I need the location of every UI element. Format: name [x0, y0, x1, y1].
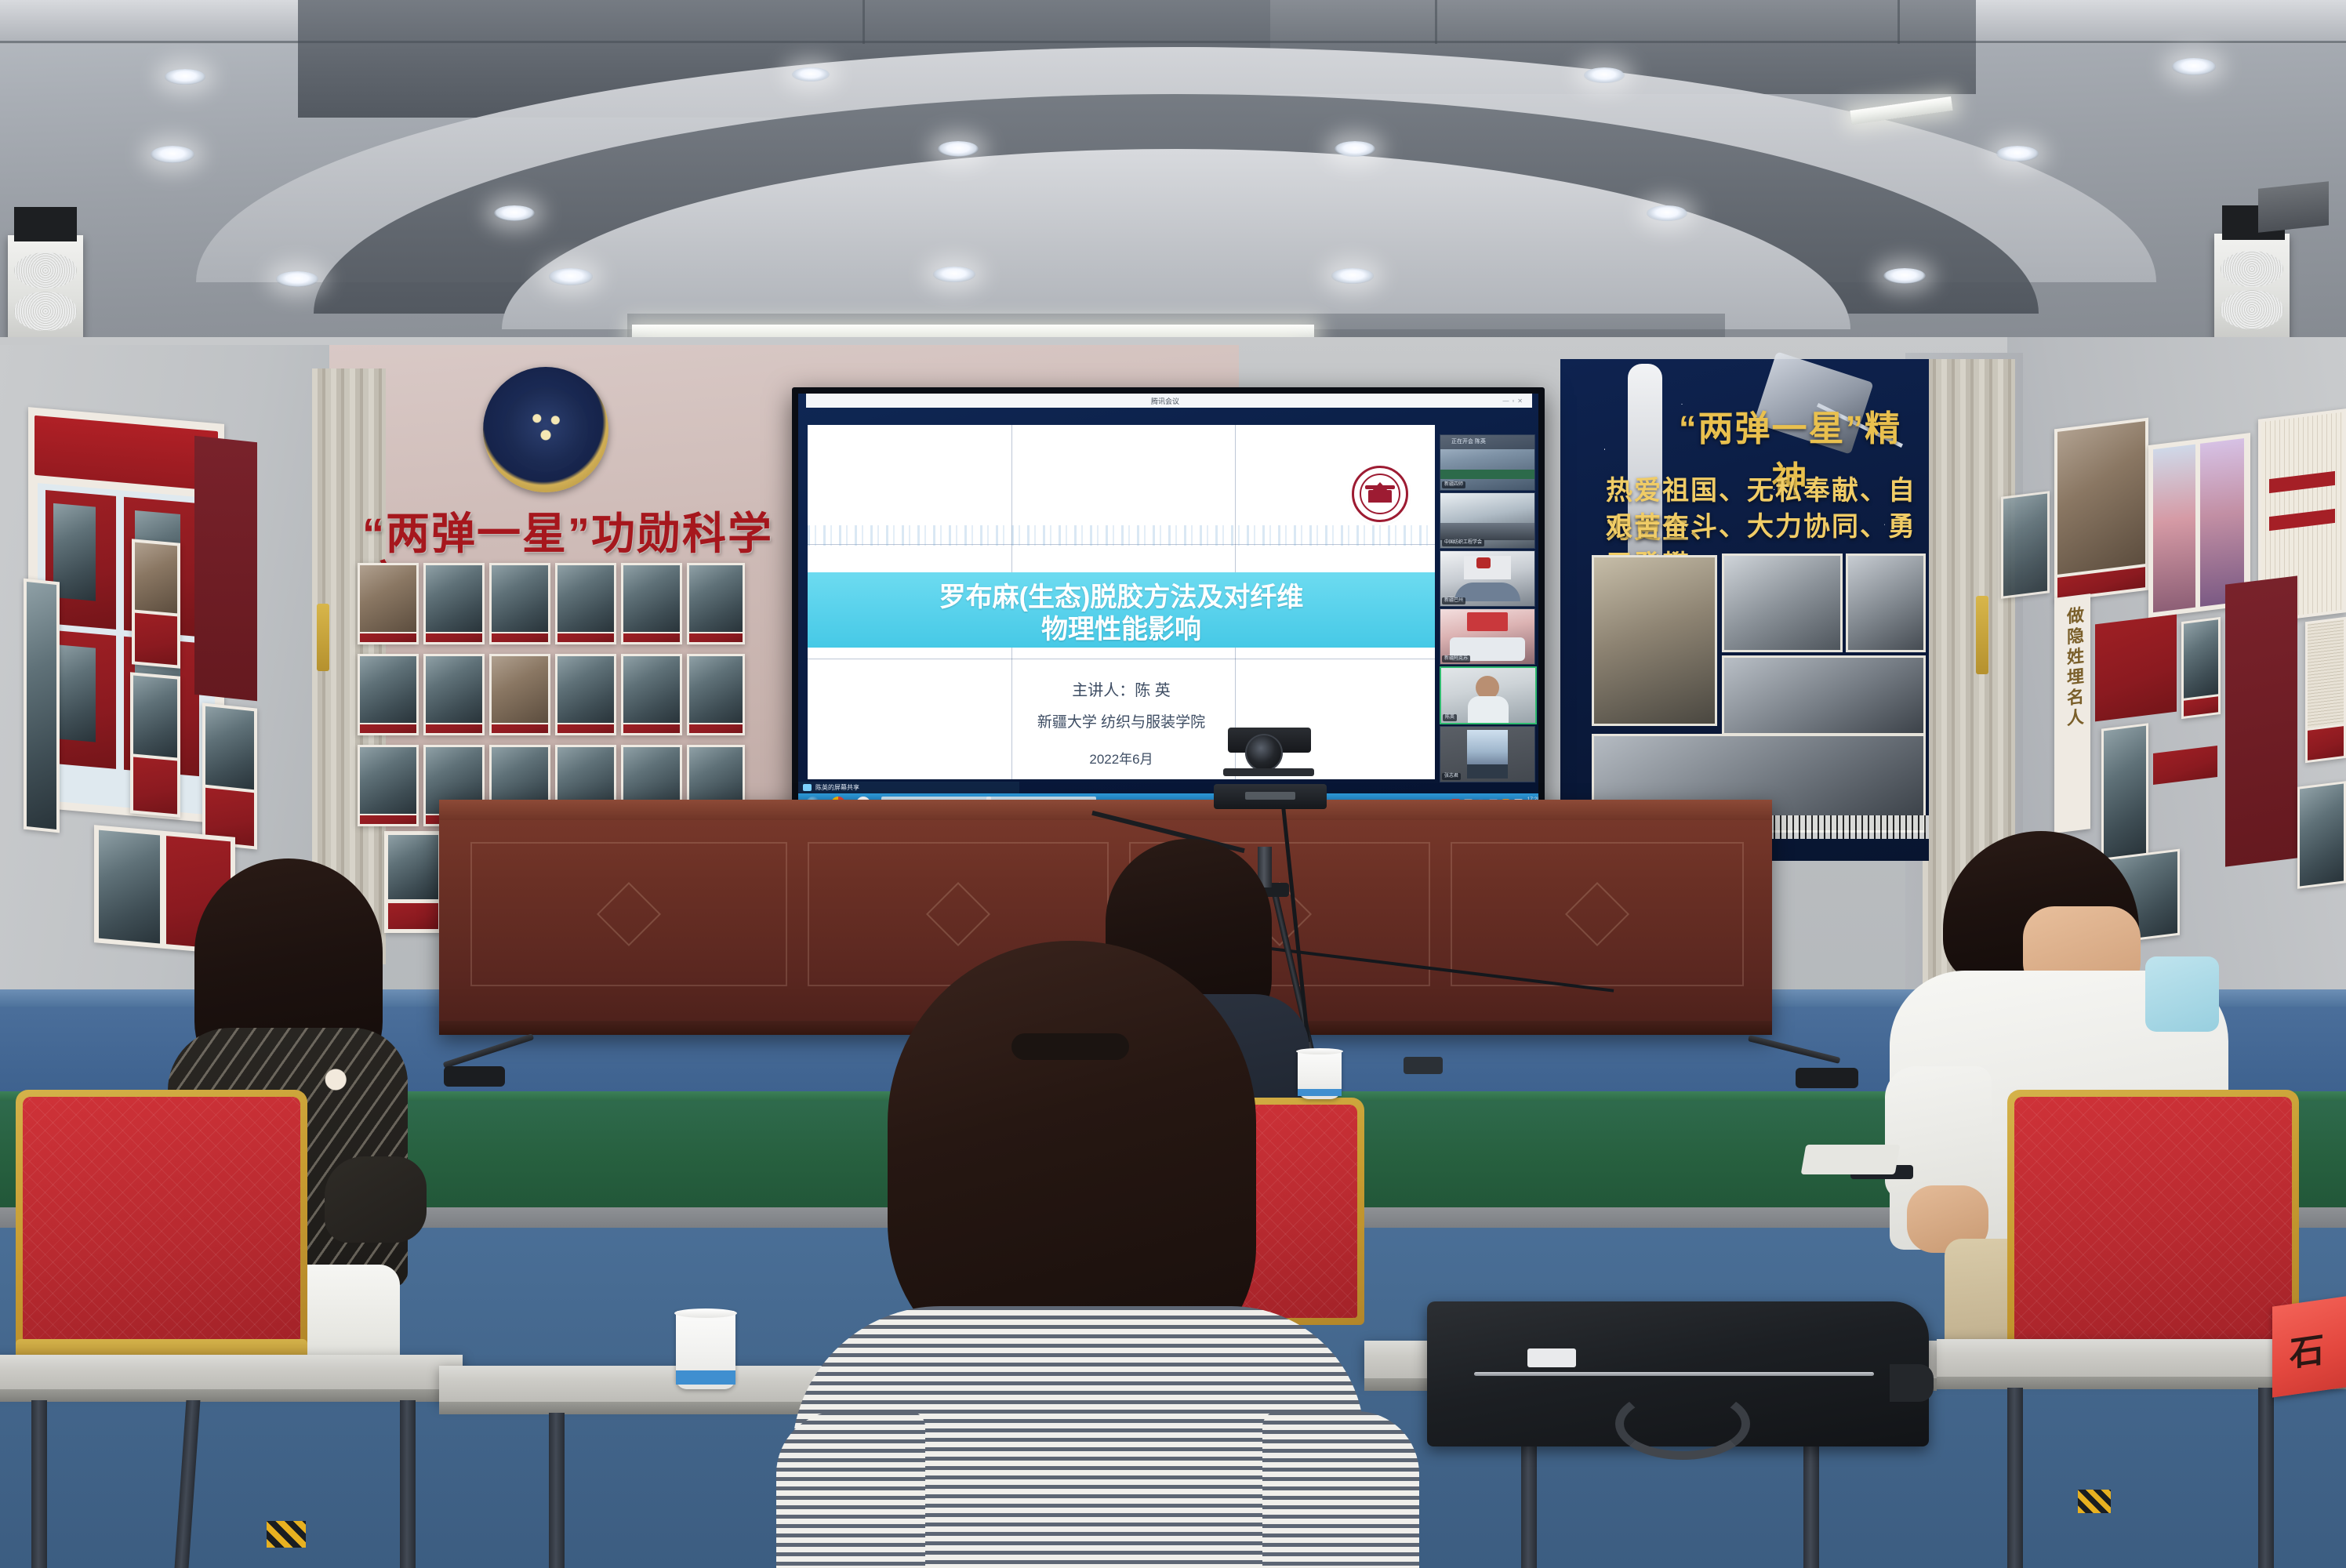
banner-photo-portrait: [1846, 554, 1926, 652]
ceiling-downlight: [549, 268, 593, 285]
ceiling-downlight: [1335, 141, 1375, 157]
front-table-left-edge: [0, 1389, 463, 1402]
ceiling-downlight: [1331, 268, 1374, 284]
table-leg: [2258, 1388, 2274, 1568]
display-screen: 腾讯会议 —▫✕ 罗布麻(生态)脱胶方法及对纤维: [798, 394, 1538, 814]
chair-right[interactable]: [2007, 1090, 2299, 1443]
table-leg: [549, 1413, 565, 1568]
right-exhibit-small-photo: [2181, 617, 2221, 719]
participant-tile[interactable]: 新疆巴州: [1440, 550, 1535, 607]
video-wall-display[interactable]: 腾讯会议 —▫✕ 罗布麻(生态)脱胶方法及对纤维: [792, 387, 1545, 831]
right-exhibit-vertical-banner: [2225, 575, 2297, 866]
slide-affiliation: 新疆大学 纺织与服装学院: [808, 710, 1435, 731]
arm-left: [776, 1411, 925, 1568]
arm: [1885, 1066, 1992, 1200]
participant-status: 正在开会 陈英: [1440, 435, 1535, 449]
banner-photo-scientist: [1592, 555, 1717, 726]
ceiling-seam-1: [0, 41, 2346, 43]
name-card-text: 石: [2290, 1321, 2324, 1376]
camera-lens: [1245, 734, 1283, 771]
table-leg: [31, 1400, 47, 1568]
ceiling-seam-2: [862, 0, 865, 44]
banner-photo-group: [1722, 554, 1843, 652]
ceiling-downlight: [1996, 146, 2039, 162]
bag-tag: [1527, 1348, 1576, 1367]
right-exhibit-red-block: [2095, 615, 2177, 722]
caution-stripe: [2078, 1490, 2111, 1513]
camera-brand-label: [1245, 792, 1295, 800]
face-mask: [2145, 956, 2219, 1032]
slide-title-line2: 物理性能影响: [808, 614, 1435, 646]
curtain-tassel-left: [317, 604, 329, 671]
ceiling-downlight: [276, 271, 318, 287]
xinjiang-university-logo: [1352, 466, 1408, 522]
ceiling-seam-4: [1897, 0, 1900, 44]
participant-label: 新疆阿克苏: [1442, 655, 1470, 662]
curtain-tassel-right: [1976, 596, 1988, 674]
table-leg: [2007, 1388, 2023, 1568]
wall-speaker-left: [8, 235, 83, 345]
speaker-bracket-left: [14, 207, 77, 241]
ceiling-downlight: [938, 141, 979, 157]
meeting-app-title: 腾讯会议: [1151, 396, 1179, 406]
meeting-window-titlebar: 腾讯会议 —▫✕: [806, 394, 1532, 408]
presentation-slide: 罗布麻(生态)脱胶方法及对纤维 物理性能影响 主讲人：陈 英 新疆大学 纺织与服…: [808, 425, 1435, 779]
banner-photo-wide: [1722, 655, 1926, 735]
projector-mount: [2258, 181, 2329, 232]
unsung-heroes-label-cn: 做隐姓埋名人: [2061, 605, 2086, 731]
ceiling-downlight: [151, 146, 194, 163]
ceiling-downlight: [1647, 205, 1687, 221]
attendee-front-woman: [776, 941, 1419, 1568]
camera-yoke: [1223, 768, 1314, 776]
caution-stripe: [267, 1521, 306, 1548]
hair-tie: [1011, 1033, 1129, 1060]
left-exhibit-photo-d: [24, 579, 60, 833]
bag-strap-end: [1890, 1364, 1934, 1402]
name-tent-card: 石: [2272, 1296, 2346, 1397]
ceiling-downlight: [2172, 58, 2216, 75]
right-exhibit-photo-c: [2297, 781, 2346, 889]
ceiling-downlight: [494, 205, 535, 221]
left-exhibit-photo-c: [202, 702, 257, 849]
right-exhibit-article: [2305, 617, 2346, 763]
ceiling-seam-3: [1435, 0, 1437, 44]
black-laptop-bag[interactable]: [1427, 1301, 1929, 1446]
right-exhibit-vertical-label: 做隐姓埋名人: [2054, 593, 2090, 833]
paper-sheet: [1801, 1145, 1901, 1174]
ceiling-downlight: [1584, 67, 1625, 83]
two-bombs-one-satellite-medal: [483, 367, 608, 492]
table-leg: [400, 1400, 416, 1568]
scientist-portrait-grid: [358, 563, 745, 831]
ceiling-downlight: [792, 67, 830, 82]
slide-speaker: 主讲人：陈 英: [808, 677, 1435, 700]
arm-right: [1262, 1411, 1419, 1568]
right-wall-space-banner: “两弹一星”精神 热爱祖国、无私奉献、自力更生、 艰苦奋斗、大力协同、勇于登攀。: [1560, 359, 1929, 861]
share-icon: [803, 784, 812, 791]
arm: [325, 1156, 427, 1243]
conference-hall-photo: “两弹一星”功勋科学家 “两弹一星”精神 热爱祖国、无私奉献、自力更生、 艰苦奋…: [0, 0, 2346, 1568]
ceiling-downlight: [165, 69, 205, 85]
left-exhibit-photo-b: [130, 672, 180, 818]
participant-label: 新疆巴州: [1442, 597, 1465, 604]
quote-ribbon: [34, 416, 218, 491]
participant-tile[interactable]: 张志君: [1440, 726, 1535, 782]
paper-cup-front[interactable]: [676, 1311, 735, 1389]
left-exhibit-photo-a: [132, 539, 180, 668]
wall-speaker-right: [2214, 234, 2290, 343]
participant-tile[interactable]: 新疆阿克苏: [1440, 608, 1535, 665]
front-table-left: [0, 1355, 463, 1391]
participant-label: 陈英: [1443, 714, 1457, 721]
ceiling-downlight: [1883, 268, 1926, 284]
right-exhibit-edge-panel: [2001, 491, 2050, 599]
left-exhibit-maroon-column: [194, 436, 257, 701]
screen-share-banner: 陈英的屏幕共享: [798, 782, 1019, 793]
participant-tile-active[interactable]: 陈英: [1440, 666, 1537, 724]
ceiling-downlight: [933, 267, 975, 282]
skyline-watermark: [808, 525, 1435, 546]
participant-video-strip[interactable]: 正在开会 陈英 新疆四师 中国纺织工程学会 新疆巴州 新疆: [1440, 434, 1534, 771]
participant-tile[interactable]: 中国纺织工程学会: [1440, 492, 1535, 549]
right-exhibit-photo-a: [2054, 418, 2148, 602]
gooseneck-mic-right-base: [1796, 1068, 1858, 1088]
participant-tile[interactable]: 正在开会 陈英 新疆四师: [1440, 434, 1535, 491]
participant-label: 张志君: [1442, 773, 1461, 780]
participant-label: 新疆四师: [1442, 481, 1465, 488]
window-controls[interactable]: —▫✕: [1502, 397, 1526, 405]
participant-label: 中国纺织工程学会: [1442, 539, 1484, 546]
slide-title-line1: 罗布麻(生态)脱胶方法及对纤维: [808, 582, 1435, 614]
